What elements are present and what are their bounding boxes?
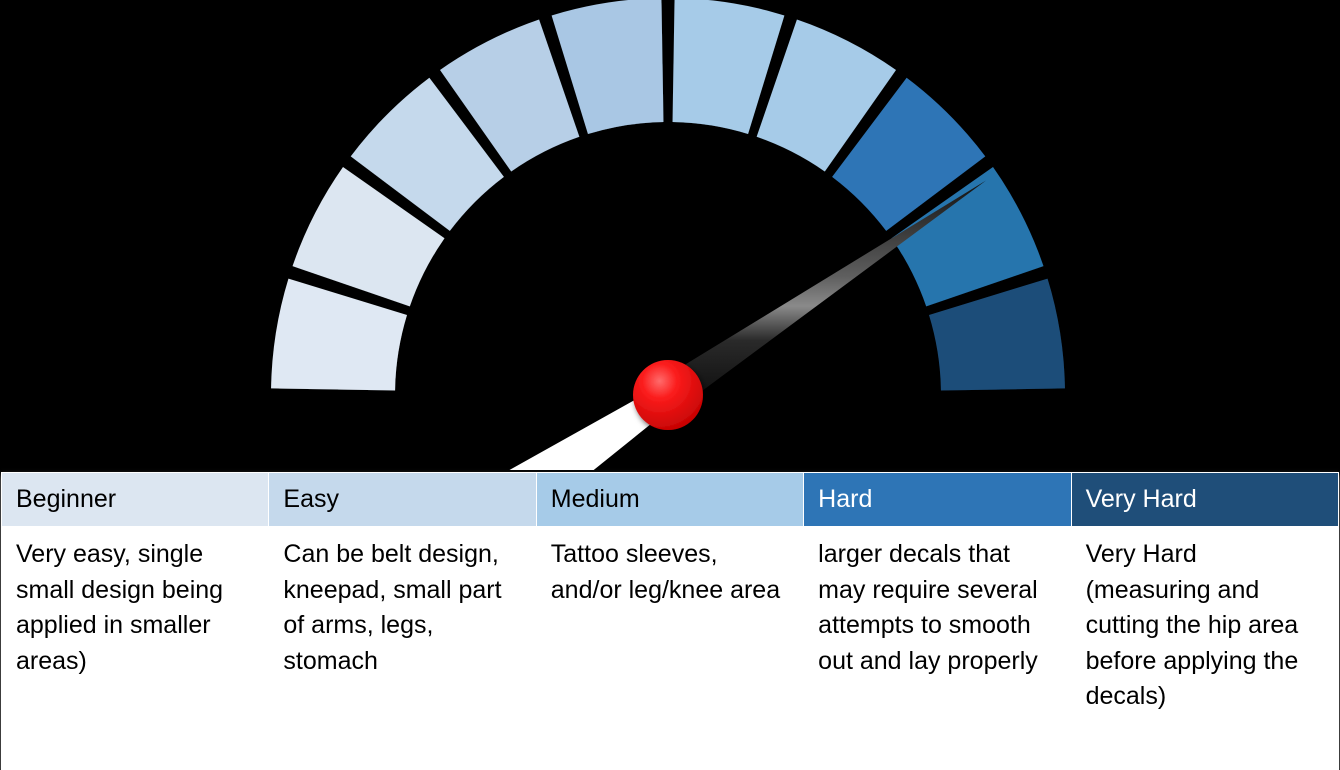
cell-medium-description[interactable]: Tattoo sleeves, and/or leg/knee area bbox=[536, 527, 803, 770]
cell-easy-description[interactable]: Can be belt design, kneepad, small part … bbox=[269, 527, 536, 770]
gauge-region bbox=[0, 0, 1340, 470]
difficulty-gauge bbox=[0, 0, 1340, 470]
cell-beginner-description[interactable]: Very easy, single small design being app… bbox=[2, 527, 269, 770]
column-header-easy[interactable]: Easy bbox=[269, 473, 536, 527]
gauge-segments bbox=[271, 0, 1065, 390]
table-row: Very easy, single small design being app… bbox=[2, 527, 1339, 770]
slide-canvas: Beginner Easy Medium Hard Very Hard Very… bbox=[0, 0, 1340, 767]
cell-hard-description[interactable]: larger decals that may require several a… bbox=[804, 527, 1071, 770]
difficulty-table-region: Beginner Easy Medium Hard Very Hard Very… bbox=[0, 470, 1340, 767]
column-header-beginner[interactable]: Beginner bbox=[2, 473, 269, 527]
column-header-very-hard[interactable]: Very Hard bbox=[1071, 473, 1338, 527]
column-header-medium[interactable]: Medium bbox=[536, 473, 803, 527]
column-header-hard[interactable]: Hard bbox=[804, 473, 1071, 527]
difficulty-table: Beginner Easy Medium Hard Very Hard Very… bbox=[1, 472, 1339, 770]
gauge-needle-hub[interactable] bbox=[633, 360, 703, 430]
table-header-row: Beginner Easy Medium Hard Very Hard bbox=[2, 473, 1339, 527]
cell-very-hard-description[interactable]: Very Hard (measuring and cutting the hip… bbox=[1071, 527, 1338, 770]
